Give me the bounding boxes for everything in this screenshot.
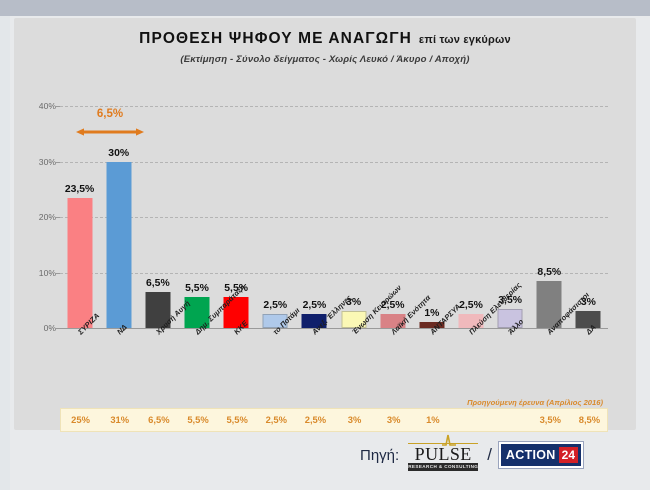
previous-survey-value: 3% (348, 414, 362, 425)
previous-survey-value: 31% (110, 414, 129, 425)
bar-slot: 2,5% (295, 106, 334, 328)
bar-slot: 2,5% (256, 106, 295, 328)
bar-slot: 2,5% (451, 106, 490, 328)
bar (106, 162, 131, 329)
previous-survey-value: 2,5% (305, 414, 326, 425)
bar-value-label: 6,5% (146, 278, 170, 289)
bar-value-label: 8,5% (537, 267, 561, 278)
pulse-wordmark: PULSE (406, 444, 480, 465)
bar-value-label: 1% (424, 308, 439, 319)
previous-survey-value: 5,5% (187, 414, 208, 425)
previous-survey-strip: Προηγούμενη έρευνα (Απρίλιος 2016) 25%31… (60, 408, 608, 432)
previous-survey-value: 25% (71, 414, 90, 425)
gap-annotation: 6,5% (72, 108, 148, 142)
gap-annotation-label: 6,5% (72, 108, 148, 120)
source-label: Πηγή: (360, 447, 399, 464)
bar-value-label: 2,5% (303, 300, 327, 311)
previous-survey-value: 8,5% (579, 414, 600, 425)
bar-value-label: 2,5% (263, 300, 287, 311)
title-block: ΠΡΟΘΕΣΗ ΨΗΦΟΥ ΜΕ ΑΝΑΓΩΓΗεπί των εγκύρων (14, 30, 636, 48)
source-line: Πηγή: PULSE RESEARCH & CONSULTING / ACTI… (360, 437, 583, 473)
previous-survey-caption: Προηγούμενη έρευνα (Απρίλιος 2016) (467, 398, 603, 407)
previous-survey-value: 3,5% (540, 414, 561, 425)
y-axis-tick-label: 30% (16, 157, 56, 167)
y-axis-tick-label: 40% (16, 101, 56, 111)
bar-slot: 8,5% (530, 106, 569, 328)
previous-survey-value: 2,5% (266, 414, 287, 425)
previous-survey-value: 6,5% (148, 414, 169, 425)
window-left-band (0, 16, 10, 490)
title-suffix: επί των εγκύρων (419, 34, 511, 46)
previous-survey-value: 5,5% (226, 414, 247, 425)
y-axis-tick-label: 10% (16, 268, 56, 278)
source-separator: / (487, 445, 492, 465)
x-axis-labels: ΣΥΡΙΖΑΝΔΧρυσή ΑυγήΔημ. ΣυμπαράταξηΚΚΕτο … (60, 330, 608, 408)
axis-baseline (60, 328, 608, 329)
action24-wordmark: ACTION (506, 448, 556, 462)
previous-survey-value: 1% (426, 414, 440, 425)
page-title: ΠΡΟΘΕΣΗ ΨΗΦΟΥ ΜΕ ΑΝΑΓΩΓΗ (139, 30, 412, 48)
chart-subtitle: (Εκτίμηση - Σύνολο δείγματος - Χωρίς Λευ… (14, 54, 636, 65)
poll-chart-slide: ΠΡΟΘΕΣΗ ΨΗΦΟΥ ΜΕ ΑΝΑΓΩΓΗεπί των εγκύρων … (14, 18, 636, 430)
y-axis-tick-label: 20% (16, 212, 56, 222)
screenshot-root: ΠΡΟΘΕΣΗ ΨΗΦΟΥ ΜΕ ΑΝΑΓΩΓΗεπί των εγκύρων … (0, 0, 650, 490)
window-top-band (0, 0, 650, 16)
bar-value-label: 30% (108, 148, 129, 159)
bar-value-label: 2,5% (459, 300, 483, 311)
previous-survey-value: 3% (387, 414, 401, 425)
pulse-logo: PULSE RESEARCH & CONSULTING (406, 438, 480, 472)
bar (67, 198, 92, 328)
action24-logo: ACTION 24 (499, 442, 583, 468)
y-axis-tick-label: 0% (16, 323, 56, 333)
double-headed-arrow-icon (76, 128, 144, 136)
bar-slot: 1% (412, 106, 451, 328)
bar-value-label: 5,5% (185, 283, 209, 294)
y-axis-tick-mark (55, 328, 60, 329)
bar-slot: 3% (334, 106, 373, 328)
action24-number: 24 (559, 447, 578, 463)
bar-slot: 5,5% (177, 106, 216, 328)
bar-value-label: 23,5% (65, 184, 94, 195)
pulse-tagline: RESEARCH & CONSULTING (408, 463, 478, 471)
